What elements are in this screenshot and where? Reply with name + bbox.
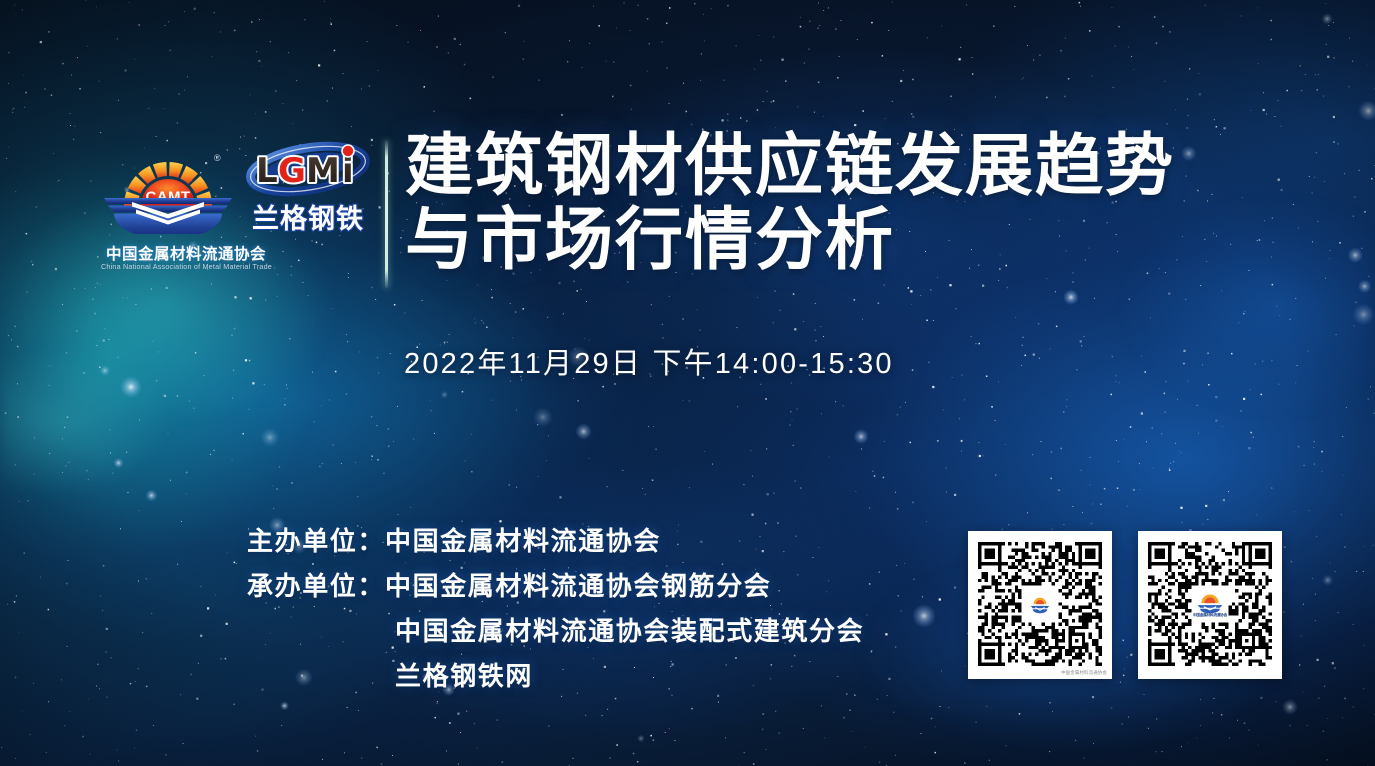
- poster-header: CAMT ®: [0, 128, 1375, 308]
- organizer-row: 兰格钢铁网: [247, 654, 967, 699]
- qr-left-caption: 中国金属材料流通协会: [1061, 670, 1107, 676]
- svg-text:L: L: [256, 151, 278, 191]
- logo-group: CAMT ®: [78, 128, 378, 303]
- poster-canvas: CAMT ®: [0, 0, 1375, 766]
- poster-title: 建筑钢材供应链发展趋势 与市场行情分析: [405, 130, 1175, 278]
- lgmi-chinese-name-text: 兰格钢铁: [252, 204, 364, 235]
- registered-trademark-icon: ®: [214, 154, 221, 163]
- qr-code-left[interactable]: 中国金属材料流通协会: [968, 531, 1112, 679]
- organizer-block: 主办单位：中国金属材料流通协会 承办单位：中国金属材料流通协会钢筋分会 中国金属…: [247, 519, 967, 699]
- title-line-2: 与市场行情分析: [405, 204, 1175, 278]
- camt-wing-icon: [102, 192, 234, 234]
- qr-code-right[interactable]: 中国金属材料流通协会: [1138, 531, 1282, 679]
- qr-right-center-logo-icon: 中国金属材料流通协会: [1192, 590, 1228, 620]
- event-datetime: 2022年11月29日 下午14:00-15:30: [404, 340, 894, 382]
- lgmi-wordmark-icon: L L G G M M i i: [240, 136, 376, 198]
- organizer-row: 承办单位：中国金属材料流通协会钢筋分会: [247, 564, 967, 609]
- title-line-1: 建筑钢材供应链发展趋势: [405, 130, 1175, 204]
- header-divider: [385, 140, 388, 288]
- lgmi-logo: L L G G M M i i 兰格钢铁: [240, 136, 376, 246]
- svg-text:M: M: [306, 151, 340, 191]
- svg-text:G: G: [278, 151, 306, 191]
- qr-right-badge-text: 中国金属材料流通协会: [1193, 613, 1227, 618]
- qr-left-center-logo-icon: [1024, 589, 1056, 621]
- organizer-row: 主办单位：中国金属材料流通协会: [247, 519, 967, 564]
- lgmi-chinese-name-icon: 兰格钢铁: [240, 192, 376, 242]
- organizer-row: 中国金属材料流通协会装配式建筑分会: [247, 609, 967, 654]
- camt-english-name: China National Association of Metal Mate…: [101, 262, 271, 271]
- camt-logo: CAMT ®: [102, 148, 234, 234]
